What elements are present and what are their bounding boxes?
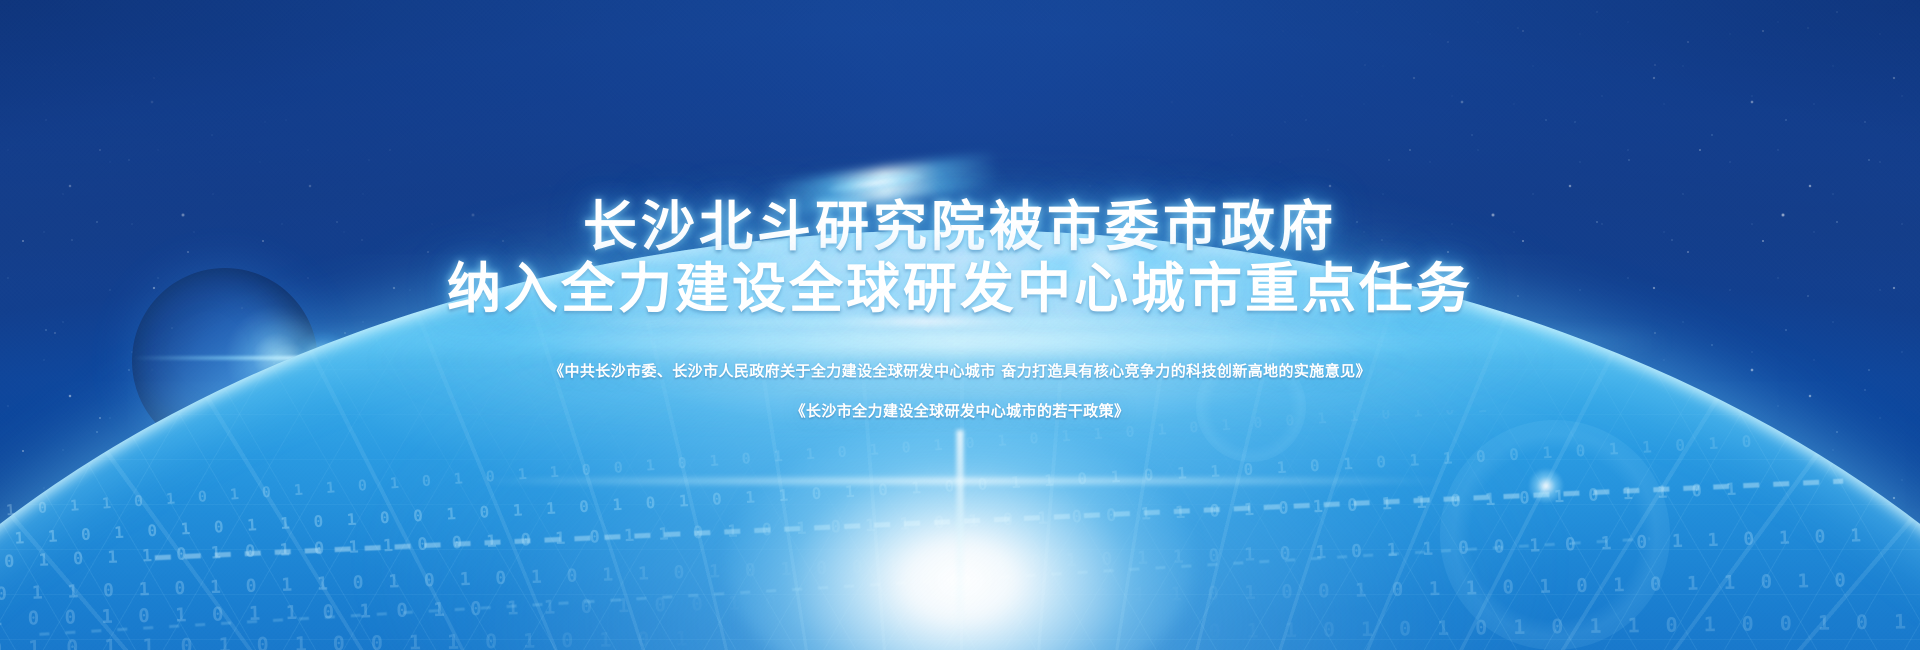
banner-subtitle-2: 《长沙市全力建设全球研发中心城市的若干政策》 [549, 396, 1371, 426]
banner: 1 0 1 0 1 1 0 1 0 1 0 1 1 0 1 0 1 0 1 1 … [0, 0, 1920, 650]
banner-subtitle-1: 《中共长沙市委、长沙市人民政府关于全力建设全球研发中心城市 奋力打造具有核心竞争… [549, 356, 1371, 386]
banner-title-line-2: 纳入全力建设全球研发中心城市重点任务 [447, 258, 1473, 320]
banner-content: 长沙北斗研究院被市委市政府 纳入全力建设全球研发中心城市重点任务 《中共长沙市委… [0, 0, 1920, 650]
banner-title-line-1: 长沙北斗研究院被市委市政府 [583, 196, 1337, 258]
banner-subtitles: 《中共长沙市委、长沙市人民政府关于全力建设全球研发中心城市 奋力打造具有核心竞争… [549, 356, 1371, 426]
